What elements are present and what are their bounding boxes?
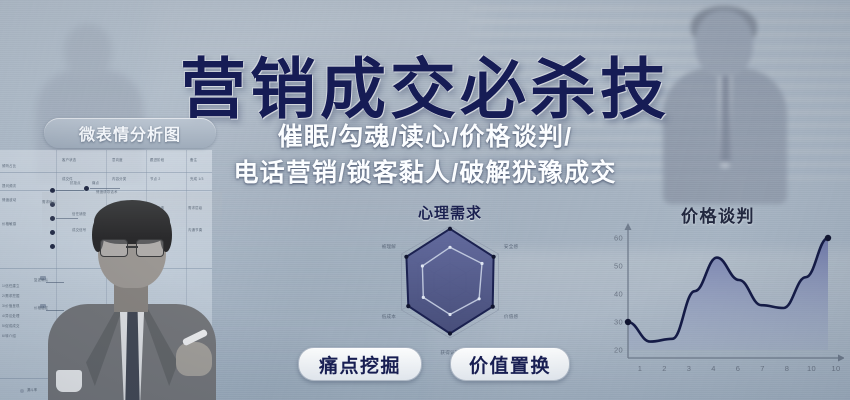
line-chart-y-tick: 20 xyxy=(614,346,623,355)
radar-chart: 心理需求 信任安全感价值感获得认可低成本被理解 xyxy=(340,200,560,350)
panel-detail-text: 1/信任建立 xyxy=(2,284,20,289)
pill-label: 痛点挖掘 xyxy=(319,351,401,378)
radar-axis-label: 被理解 xyxy=(382,244,396,250)
panel-detail-text: 5/促成成交 xyxy=(2,324,20,329)
line-chart-x-tick: 10 xyxy=(832,364,841,373)
line-chart-x-tick: 8 xyxy=(785,364,789,373)
line-chart-y-tick: 50 xyxy=(614,262,623,271)
line-chart-y-tick: 60 xyxy=(614,234,623,243)
pill-label: 价值置换 xyxy=(469,351,551,378)
line-chart-x-tick: 3 xyxy=(687,364,691,373)
line-chart-x-tick: 6 xyxy=(736,364,740,373)
badge-label: 微表情分析图 xyxy=(79,121,181,145)
pill-pain-point[interactable]: 痛点挖掘 xyxy=(298,347,422,381)
pill-value-exchange[interactable]: 价值置换 xyxy=(450,347,570,381)
panel-left-note: 情绪波动 xyxy=(2,198,16,203)
subtitle-line-2: 电话营销/锁客黏人/破解犹豫成交 xyxy=(0,153,850,189)
line-chart-x-tick: 2 xyxy=(662,364,666,373)
badge-micro-expression: 微表情分析图 xyxy=(44,118,216,148)
radar-chart-svg xyxy=(340,200,560,350)
line-chart-x-tick: 4 xyxy=(711,364,715,373)
line-chart-x-tick: 7 xyxy=(760,364,764,373)
line-chart-y-tick: 40 xyxy=(614,290,623,299)
panel-detail-text: 3/价值呈现 xyxy=(2,304,20,309)
radar-axis-label: 安全感 xyxy=(504,244,518,250)
panel-left-note: 价格敏感 xyxy=(2,222,16,227)
line-chart-y-tick: 30 xyxy=(614,318,623,327)
line-chart-x-tick: 1 xyxy=(638,364,642,373)
panel-detail-text: 2/需求挖掘 xyxy=(2,294,20,299)
line-chart-svg xyxy=(592,198,844,384)
radar-axis-label: 信任 xyxy=(445,208,455,214)
marketing-banner: 客户状态 意向度 跟进阶段 备注 成交件 内容分类 节点 2 完成 1/3 倾听… xyxy=(0,0,850,400)
line-chart-x-tick: 10 xyxy=(807,364,816,373)
radar-axis-label: 价值感 xyxy=(504,314,518,320)
line-chart: 价格谈判 6050403020 12346781010 xyxy=(592,198,844,384)
radar-axis-label: 低成本 xyxy=(382,314,396,320)
foreground-speaker-photo xyxy=(42,192,222,400)
panel-detail-text: 6/转介绍 xyxy=(2,334,16,339)
panel-detail-text: 4/异议处理 xyxy=(2,314,20,319)
